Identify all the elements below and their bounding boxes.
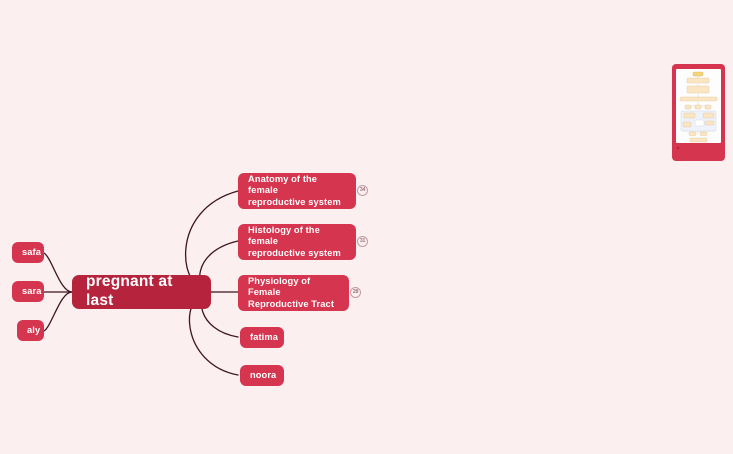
node-sara-label: sara <box>22 286 42 297</box>
node-anatomy[interactable]: Anatomy of the female reproductive syste… <box>238 173 356 209</box>
node-safa[interactable]: safa <box>12 242 44 263</box>
collapse-badge-anatomy[interactable]: 34 <box>357 185 368 196</box>
node-fatima-label: fatima <box>250 332 278 343</box>
node-noora[interactable]: noora <box>240 365 284 386</box>
link-root-aly <box>44 292 72 331</box>
collapse-badge-histology[interactable]: 31 <box>357 236 368 247</box>
node-physiology[interactable]: Physiology of Female Reproductive Tract <box>238 275 349 311</box>
preview-thumbnail-image <box>676 69 721 143</box>
connector-layer <box>0 0 733 454</box>
preview-card[interactable] <box>672 64 725 161</box>
node-histology[interactable]: Histology of the female reproductive sys… <box>238 224 356 260</box>
node-safa-label: safa <box>22 247 41 258</box>
link-root-safa <box>44 253 72 292</box>
node-noora-label: noora <box>250 370 276 381</box>
collapse-badge-physiology[interactable]: 28 <box>350 287 361 298</box>
preview-marker-dot <box>677 147 679 149</box>
node-anatomy-label: Anatomy of the female reproductive syste… <box>248 174 346 208</box>
node-aly[interactable]: aly <box>17 320 44 341</box>
flowchart-thumbnail-icon <box>676 69 721 143</box>
node-aly-label: aly <box>27 325 40 336</box>
mindmap-canvas[interactable]: pregnant at last safa sara aly Anatomy o… <box>0 0 733 454</box>
node-physiology-label: Physiology of Female Reproductive Tract <box>248 276 339 310</box>
root-node[interactable]: pregnant at last <box>72 275 211 309</box>
node-sara[interactable]: sara <box>12 281 44 302</box>
root-node-label: pregnant at last <box>86 273 197 311</box>
node-histology-label: Histology of the female reproductive sys… <box>248 225 346 259</box>
node-fatima[interactable]: fatima <box>240 327 284 348</box>
